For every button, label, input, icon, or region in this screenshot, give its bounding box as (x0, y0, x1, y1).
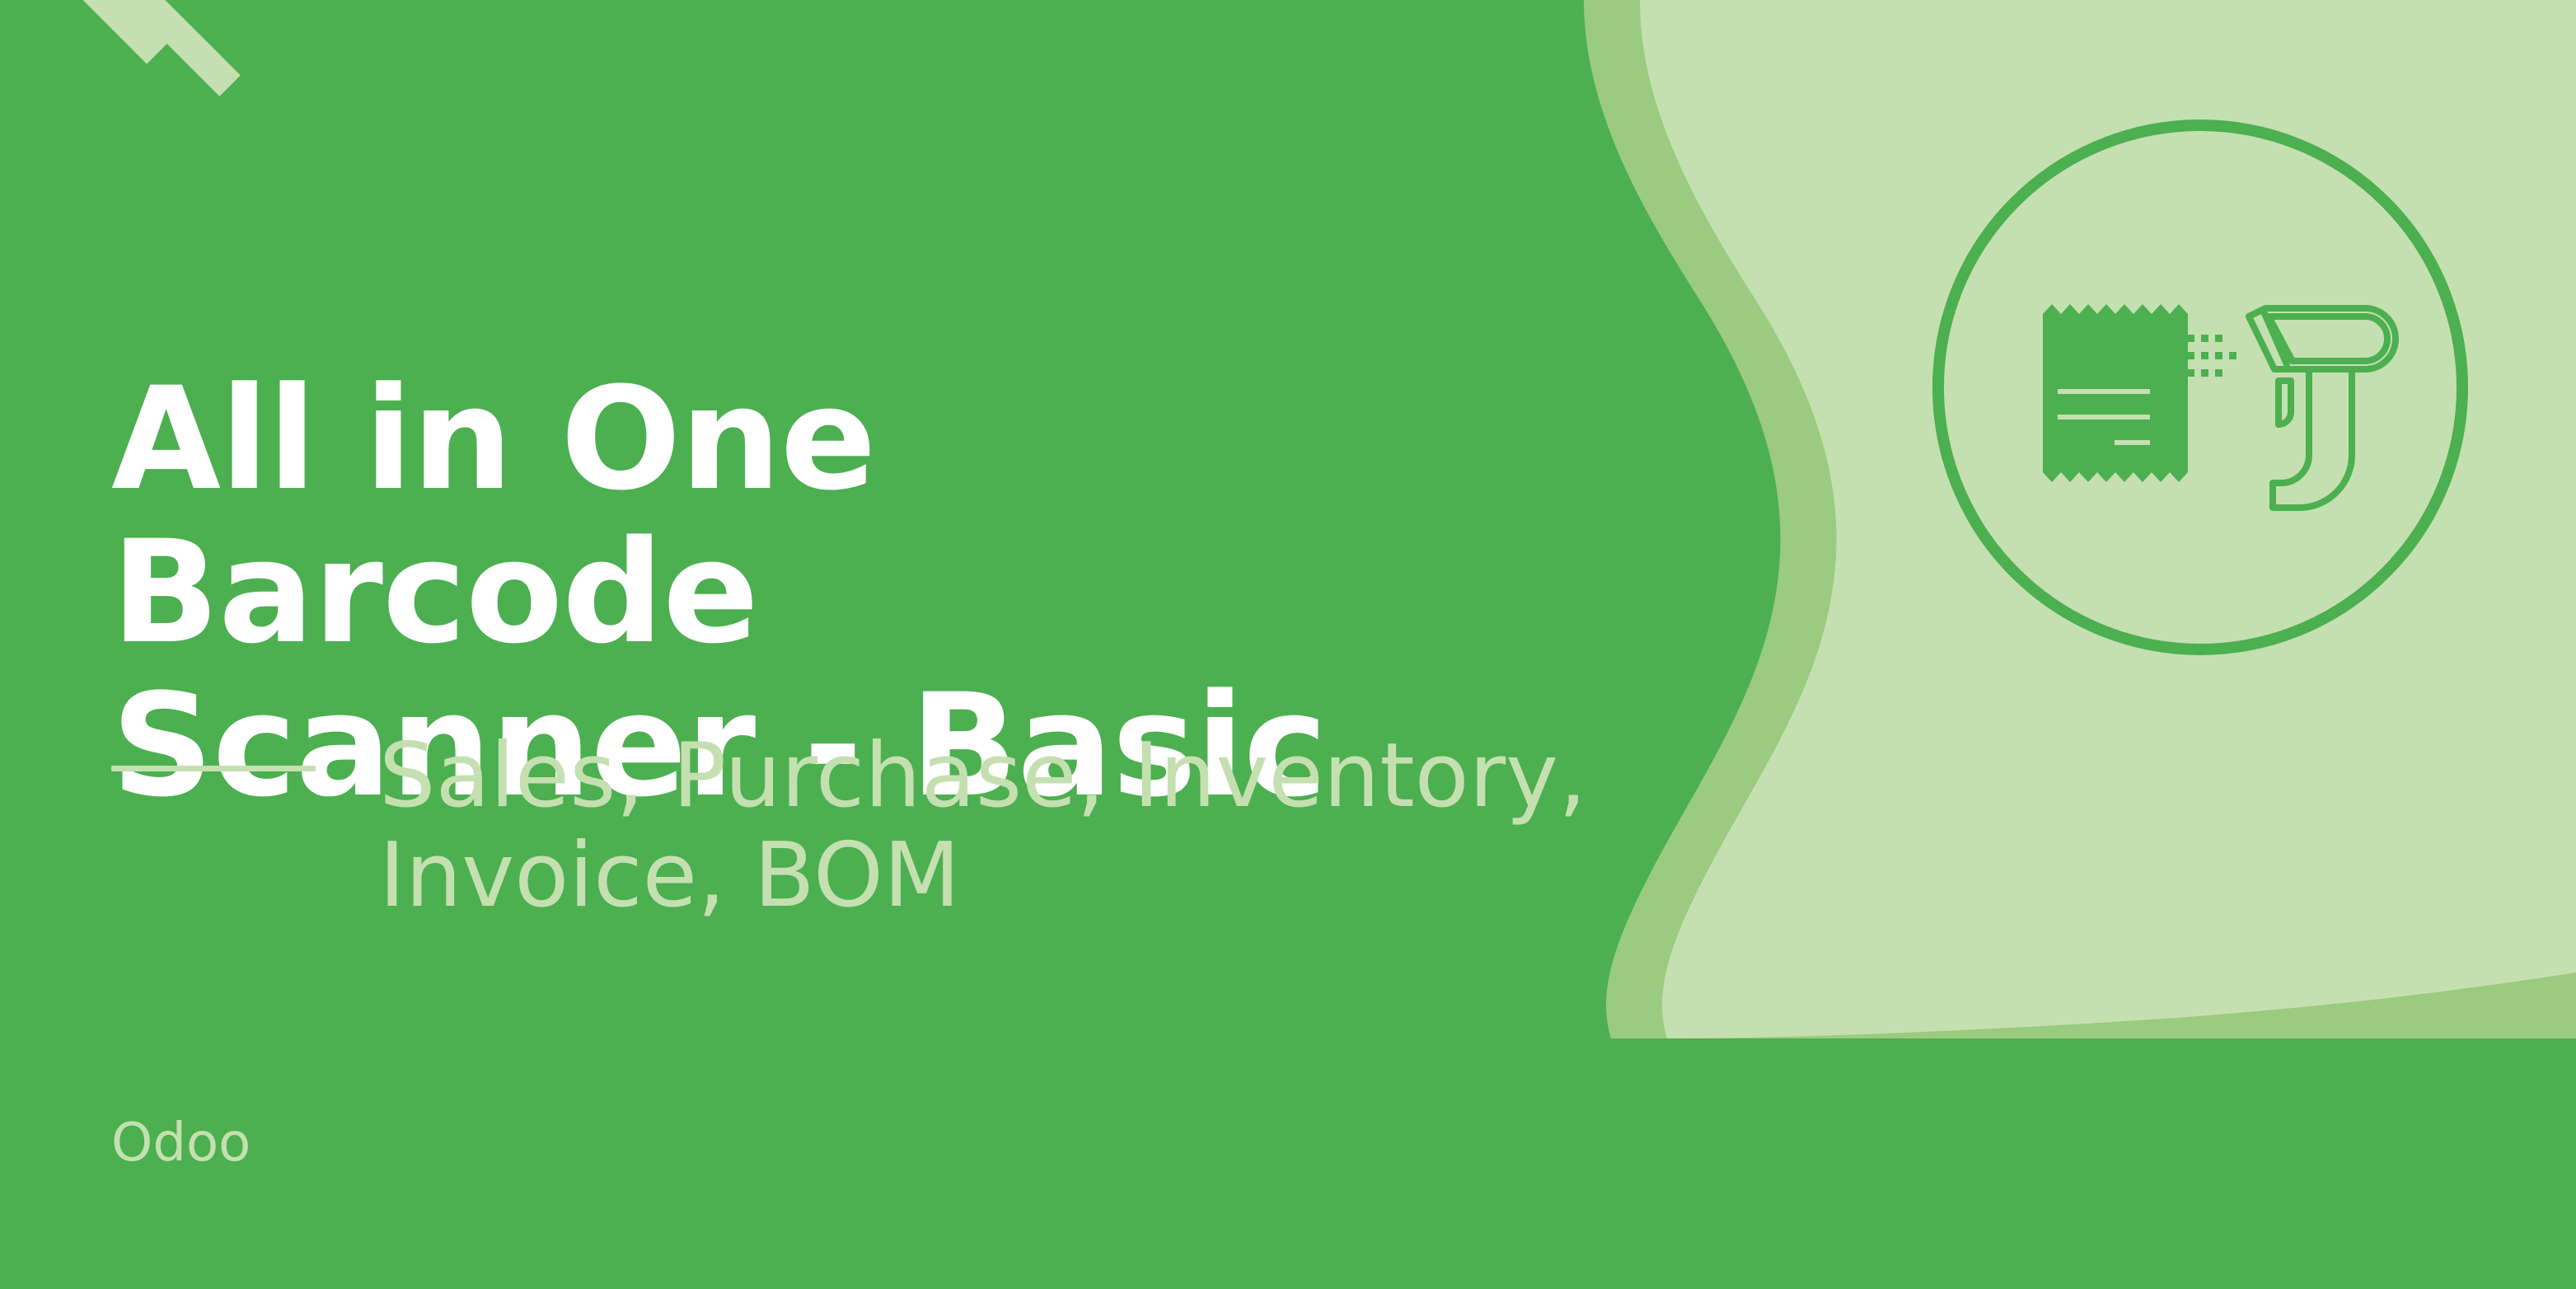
receipt-line-3 (2115, 440, 2150, 445)
promo-banner: All in One Barcode Scanner - Basic Sales… (0, 0, 2576, 1289)
background-artwork (0, 0, 2576, 1289)
receipt-line-1 (2058, 389, 2150, 394)
receipt-line-2 (2058, 415, 2150, 420)
receipt-icon (2043, 304, 2188, 482)
